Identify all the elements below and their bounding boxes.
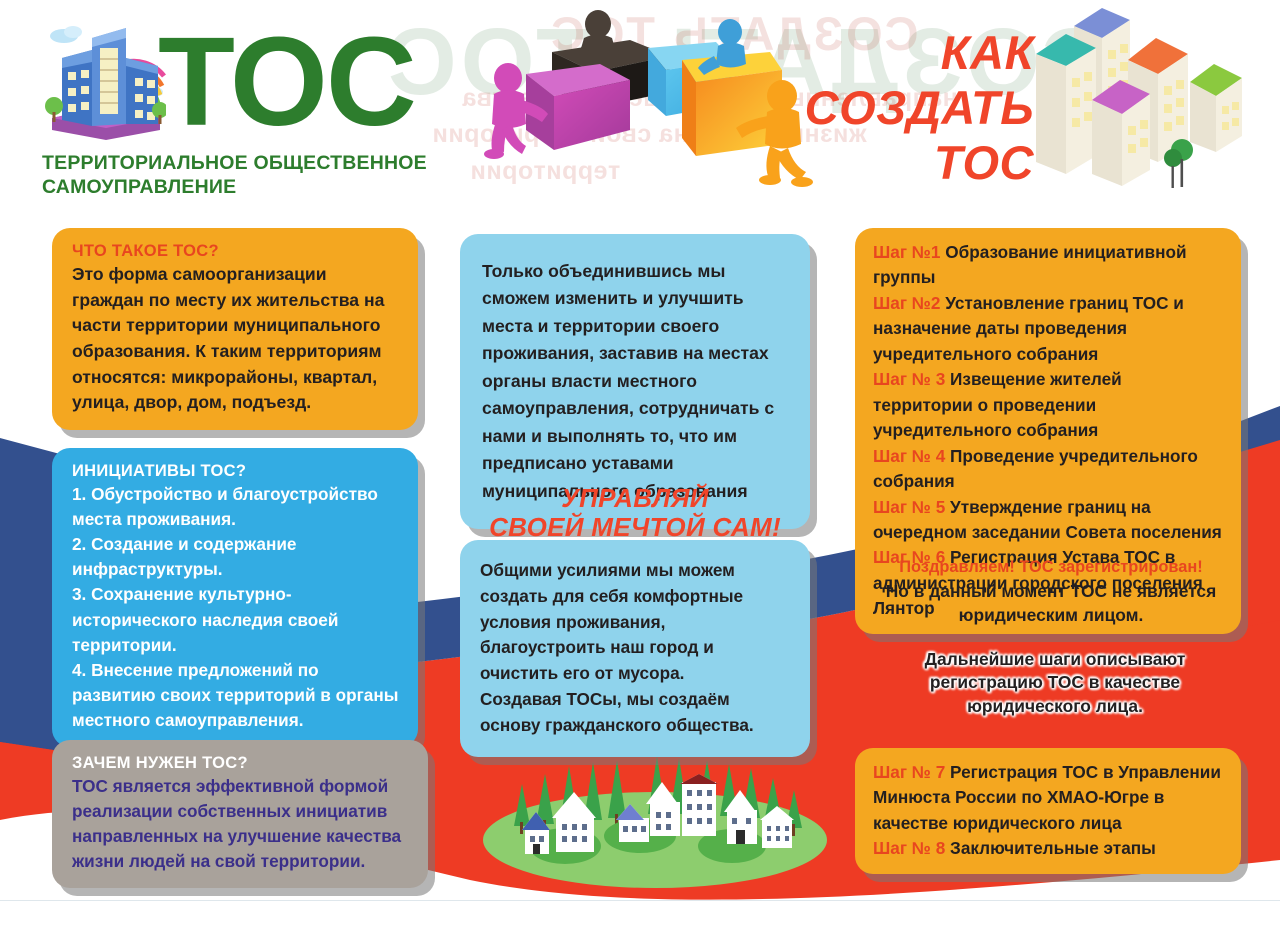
step-label: Шаг №2	[873, 293, 940, 313]
people-assembling-puzzle-cubes-illustration	[470, 4, 820, 209]
step-label: Шаг №1	[873, 242, 940, 262]
howto-heading-line3: ТОС	[805, 136, 1034, 191]
card-initiatives: ИНИЦИАТИВЫ ТОС? 1. Обустройство и благоу…	[52, 448, 418, 747]
step-label: Шаг № 4	[873, 446, 945, 466]
card-initiatives-heading: ИНИЦИАТИВЫ ТОС?	[72, 462, 400, 481]
next-steps-line3: юридического лица.	[862, 695, 1248, 718]
step-item: Шаг № 3 Извещение жителей территории о п…	[873, 367, 1225, 443]
next-steps-note: Дальнейшие шаги описывают регистрацию ТО…	[862, 648, 1248, 718]
card-initiatives-body: 1. Обустройство и благоустройство места …	[72, 482, 400, 733]
card-why-tos-heading: ЗАЧЕМ НУЖЕН ТОС?	[72, 754, 410, 773]
congratulations-line1: Поздравляем! ТОС зарегистрирован!	[855, 556, 1247, 579]
card-why-tos-body: ТОС является эффективной формой реализац…	[72, 774, 410, 874]
bottom-page-edge	[0, 900, 1280, 930]
step-item: Шаг №1 Образование инициативной группы	[873, 240, 1225, 291]
slogan-manage-your-dream: УПРАВЛЯЙ СВОЕЙ МЕЧТОЙ САМ!	[460, 484, 810, 542]
step-label: Шаг № 3	[873, 369, 945, 389]
congratulations-line2: Но в данный момент ТОС не является	[855, 579, 1247, 603]
step-text: Заключительные этапы	[950, 838, 1156, 858]
logo-subtitle: ТЕРРИТОРИАЛЬНОЕ ОБЩЕСТВЕННОЕ САМОУПРАВЛЕ…	[42, 152, 460, 200]
next-steps-line1: Дальнейшие шаги описывают	[862, 648, 1248, 671]
congratulations-line3: юридическим лицом.	[855, 603, 1247, 627]
step-label: Шаг № 8	[873, 838, 945, 858]
step-item: Шаг №2 Установление границ ТОС и назначе…	[873, 291, 1225, 367]
logo-subtitle-line2: САМОУПРАВЛЕНИЕ	[42, 176, 460, 200]
card-unite-body: Только объединившись мы сможем изменить …	[482, 258, 792, 505]
village-on-green-hill-illustration	[470, 734, 840, 894]
howto-heading-line2: СОЗДАТЬ	[805, 81, 1034, 136]
slogan-line2: СВОЕЙ МЕЧТОЙ САМ!	[460, 513, 810, 542]
card-what-is-tos-heading: ЧТО ТАКОЕ ТОС?	[72, 242, 400, 261]
logo-subtitle-line1: ТЕРРИТОРИАЛЬНОЕ ОБЩЕСТВЕННОЕ	[42, 152, 460, 176]
step-label: Шаг № 5	[873, 497, 945, 517]
card-common-effort-body: Общими усилиями мы можем создать для себ…	[480, 558, 792, 739]
howto-heading-line1: КАК	[805, 26, 1034, 81]
colorful-houses-cluster-illustration	[1030, 4, 1258, 204]
card-steps-7-to-8: Шаг № 7 Регистрация ТОС в Управлении Мин…	[855, 748, 1241, 874]
apartment-building-with-rainbow-icon	[40, 14, 166, 146]
logo-acronym: ТОС	[158, 22, 415, 142]
step-item: Шаг № 8 Заключительные этапы	[873, 836, 1225, 861]
step-label: Шаг № 7	[873, 762, 945, 782]
next-steps-line2: регистрацию ТОС в качестве	[862, 671, 1248, 694]
step-item: Шаг № 4 Проведение учредительного собран…	[873, 444, 1225, 495]
slogan-line1: УПРАВЛЯЙ	[460, 484, 810, 513]
card-what-is-tos-body: Это форма самоорганизации граждан по мес…	[72, 262, 400, 416]
logo-block: ТОС ТЕРРИТОРИАЛЬНОЕ ОБЩЕСТВЕННОЕ САМОУПР…	[40, 14, 460, 200]
card-why-tos: ЗАЧЕМ НУЖЕН ТОС? ТОС является эффективно…	[52, 740, 428, 888]
poster-root: СОЗДАТЬ ТОС СОЗДАТЬ ТОС направленных на …	[0, 0, 1280, 930]
howto-heading: КАК СОЗДАТЬ ТОС	[805, 26, 1034, 191]
step-item: Шаг № 5 Утверждение границ на очередном …	[873, 495, 1225, 546]
step-item: Шаг № 7 Регистрация ТОС в Управлении Мин…	[873, 760, 1225, 836]
card-common-effort: Общими усилиями мы можем создать для себ…	[460, 540, 810, 757]
card-what-is-tos: ЧТО ТАКОЕ ТОС? Это форма самоорганизации…	[52, 228, 418, 430]
congratulations-note: Поздравляем! ТОС зарегистрирован! Но в д…	[855, 556, 1247, 627]
